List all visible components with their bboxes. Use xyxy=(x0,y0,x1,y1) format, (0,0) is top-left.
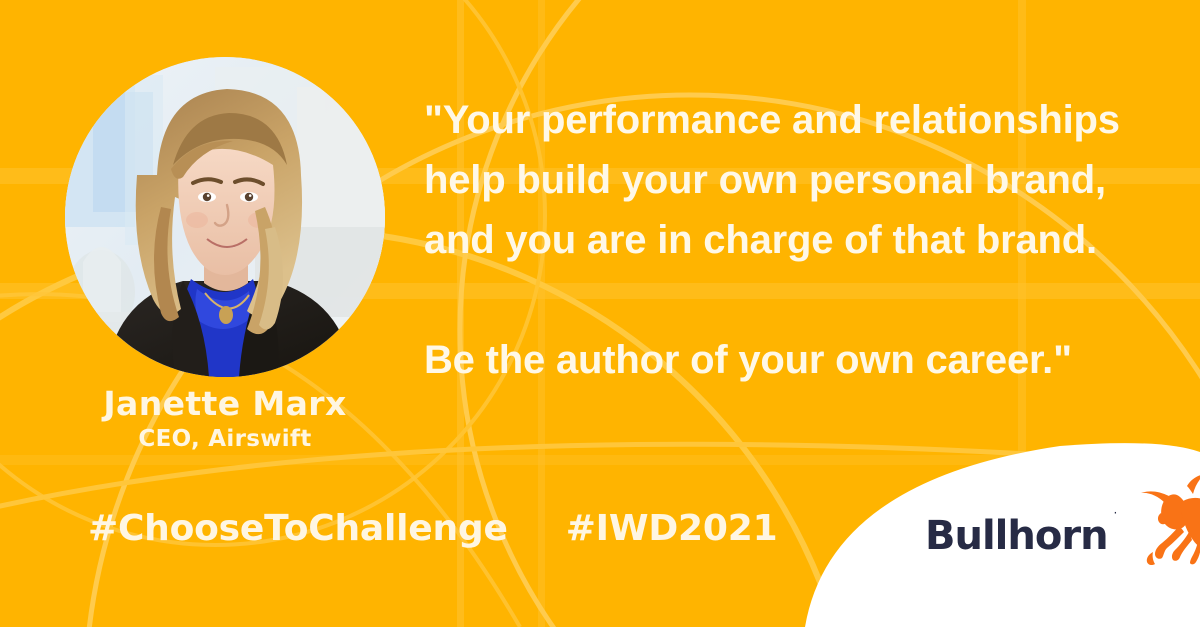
quote-paragraph-2: Be the author of your own career." xyxy=(424,330,1124,390)
avatar xyxy=(65,57,385,377)
speaker-info: Janette Marx CEO, Airswift xyxy=(0,385,450,454)
quote-paragraph-1: "Your performance and relationships help… xyxy=(424,90,1124,270)
hashtag-group: #ChooseToChallenge #IWD2021 xyxy=(88,508,777,549)
person-name: Janette Marx xyxy=(0,385,450,423)
person-title: CEO, Airswift xyxy=(0,426,450,454)
registered-mark: · xyxy=(1114,506,1118,520)
bullhorn-wordmark: Bullhorn xyxy=(925,516,1108,556)
hashtag-choose-to-challenge[interactable]: #ChooseToChallenge xyxy=(88,508,508,549)
quote-text: "Your performance and relationships help… xyxy=(424,90,1124,390)
bull-logo-icon xyxy=(1131,474,1200,571)
bullhorn-logo[interactable]: Bullhorn · xyxy=(925,500,1200,571)
social-quote-card: Janette Marx CEO, Airswift "Your perform… xyxy=(0,0,1200,627)
person-photo xyxy=(65,57,385,377)
hashtag-iwd2021[interactable]: #IWD2021 xyxy=(566,508,778,549)
